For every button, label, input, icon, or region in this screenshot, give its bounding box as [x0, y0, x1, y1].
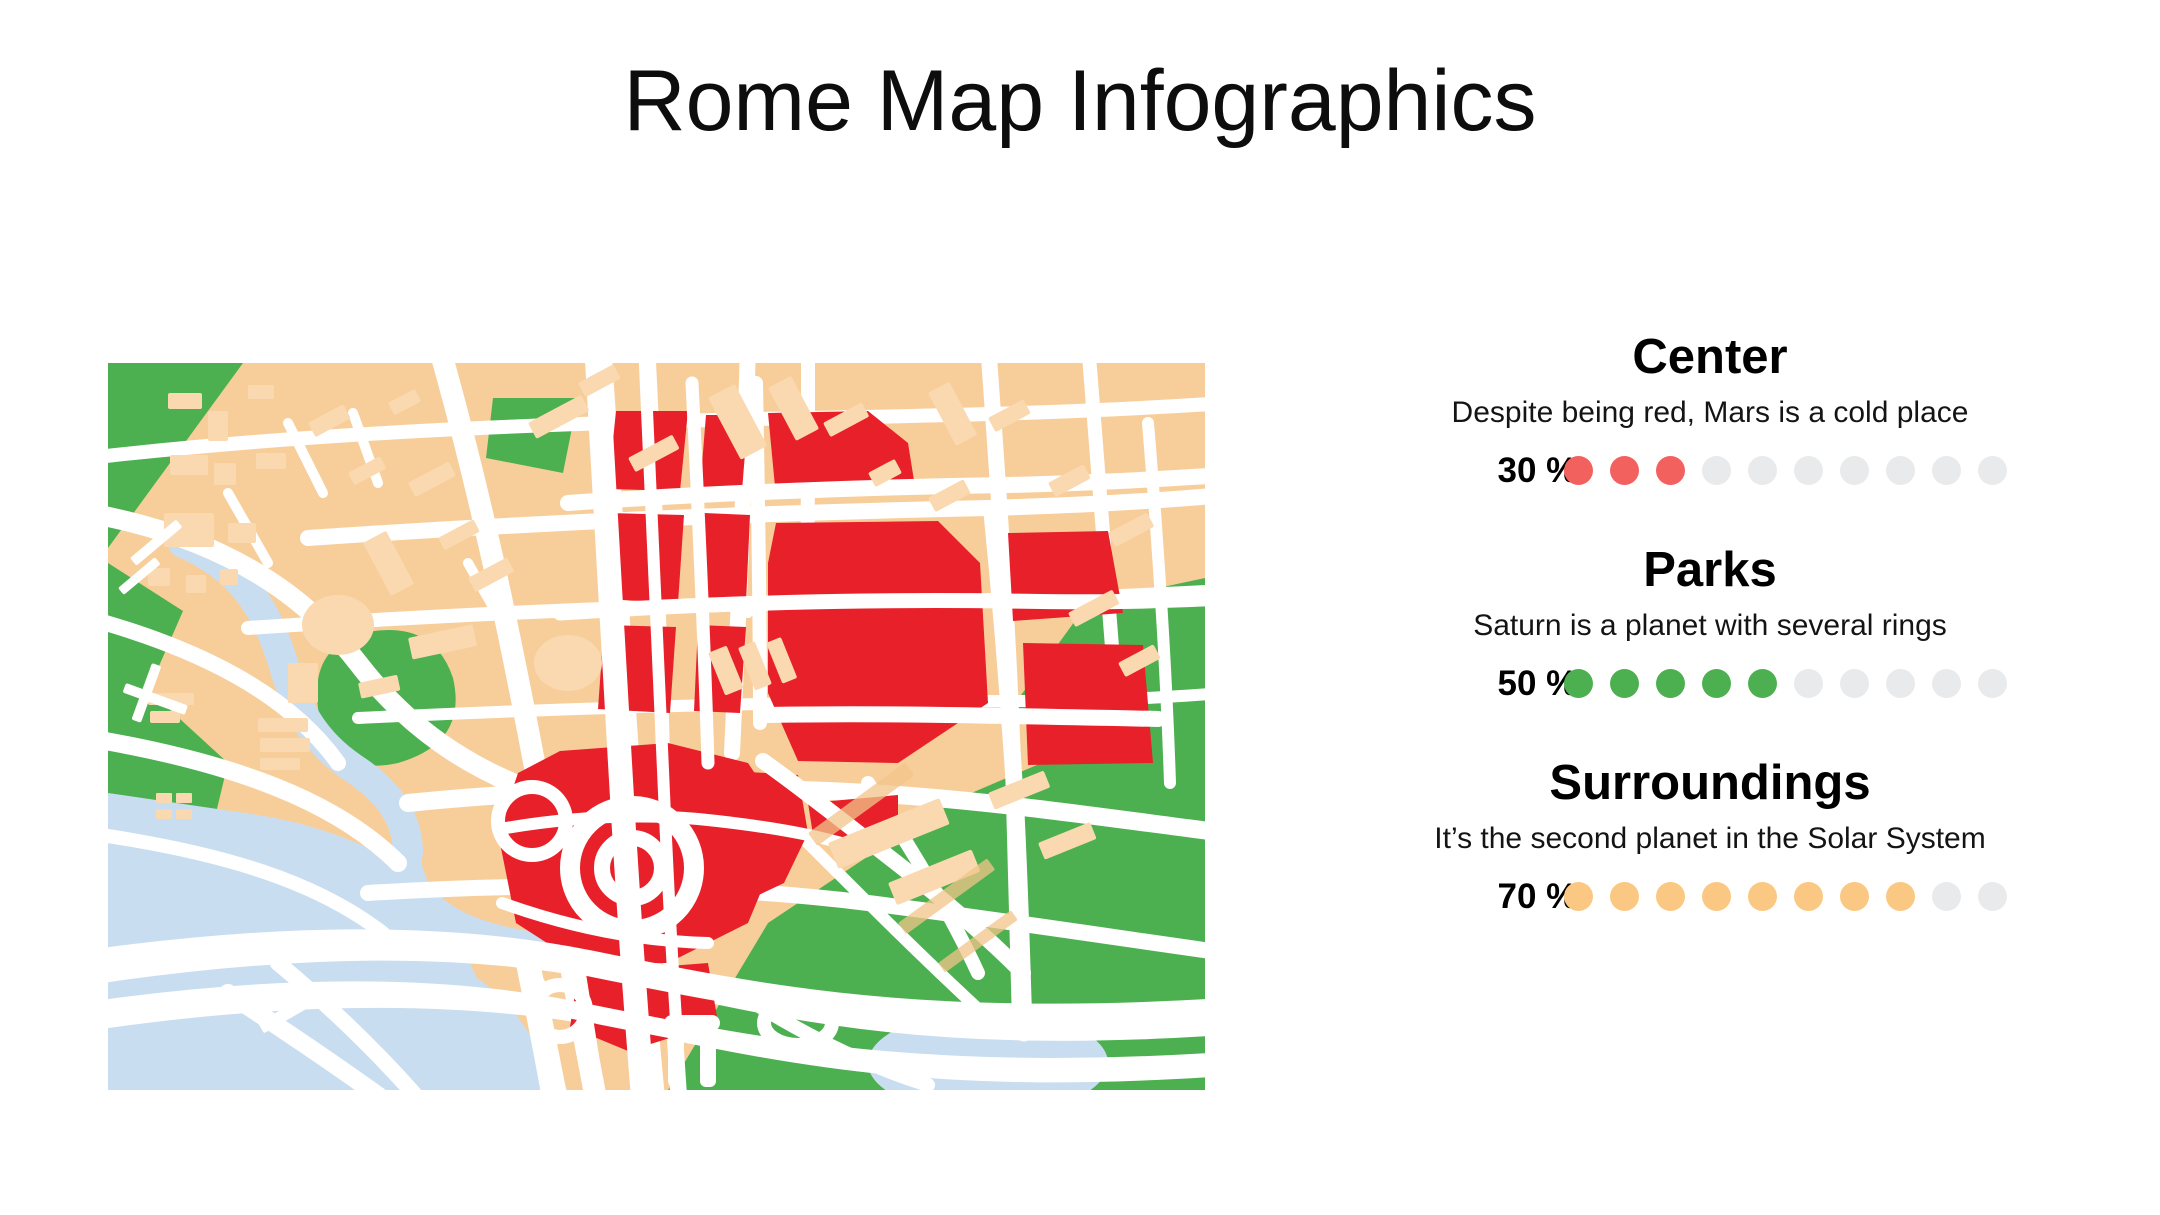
meter-dot-filled — [1656, 456, 1685, 485]
stat-title-center: Center — [1310, 330, 2110, 385]
stat-meter-center: 30 % — [1310, 451, 2110, 491]
rome-map[interactable] — [108, 363, 1205, 1090]
stats-panel: Center Despite being red, Mars is a cold… — [1310, 330, 2110, 917]
meter-dot-empty — [1978, 669, 2007, 698]
meter-dot-filled — [1610, 669, 1639, 698]
meter-dot-filled — [1610, 882, 1639, 911]
meter-dot-empty — [1978, 882, 2007, 911]
meter-dot-filled — [1748, 882, 1777, 911]
stat-meter-parks: 50 % — [1310, 664, 2110, 704]
dot-meter-parks — [1564, 669, 2007, 698]
meter-dot-empty — [1840, 669, 1869, 698]
meter-dot-filled — [1656, 882, 1685, 911]
stat-block-surroundings: Surroundings It’s the second planet in t… — [1310, 756, 2110, 917]
stat-title-parks: Parks — [1310, 543, 2110, 598]
meter-dot-empty — [1978, 456, 2007, 485]
meter-dot-filled — [1794, 882, 1823, 911]
page-title: Rome Map Infographics — [0, 58, 2160, 144]
stat-block-parks: Parks Saturn is a planet with several ri… — [1310, 543, 2110, 704]
map-illustration — [108, 363, 1205, 1090]
dot-meter-center — [1564, 456, 2007, 485]
meter-dot-filled — [1886, 882, 1915, 911]
stat-block-center: Center Despite being red, Mars is a cold… — [1310, 330, 2110, 491]
meter-dot-filled — [1840, 882, 1869, 911]
stat-description-surroundings: It’s the second planet in the Solar Syst… — [1310, 821, 2110, 857]
stat-percent-parks: 50 % — [1414, 664, 1564, 704]
meter-dot-filled — [1564, 882, 1593, 911]
meter-dot-empty — [1794, 669, 1823, 698]
stat-description-center: Despite being red, Mars is a cold place — [1310, 395, 2110, 431]
stat-title-surroundings: Surroundings — [1310, 756, 2110, 811]
meter-dot-empty — [1932, 882, 1961, 911]
meter-dot-filled — [1702, 882, 1731, 911]
meter-dot-filled — [1564, 456, 1593, 485]
meter-dot-empty — [1702, 456, 1731, 485]
meter-dot-empty — [1886, 456, 1915, 485]
meter-dot-empty — [1932, 669, 1961, 698]
stat-percent-surroundings: 70 % — [1414, 877, 1564, 917]
meter-dot-empty — [1932, 456, 1961, 485]
dot-meter-surroundings — [1564, 882, 2007, 911]
meter-dot-empty — [1748, 456, 1777, 485]
stat-meter-surroundings: 70 % — [1310, 877, 2110, 917]
meter-dot-filled — [1656, 669, 1685, 698]
meter-dot-filled — [1748, 669, 1777, 698]
stat-description-parks: Saturn is a planet with several rings — [1310, 608, 2110, 644]
meter-dot-empty — [1840, 456, 1869, 485]
meter-dot-filled — [1564, 669, 1593, 698]
meter-dot-empty — [1794, 456, 1823, 485]
meter-dot-filled — [1610, 456, 1639, 485]
stat-percent-center: 30 % — [1414, 451, 1564, 491]
meter-dot-filled — [1702, 669, 1731, 698]
meter-dot-empty — [1886, 669, 1915, 698]
